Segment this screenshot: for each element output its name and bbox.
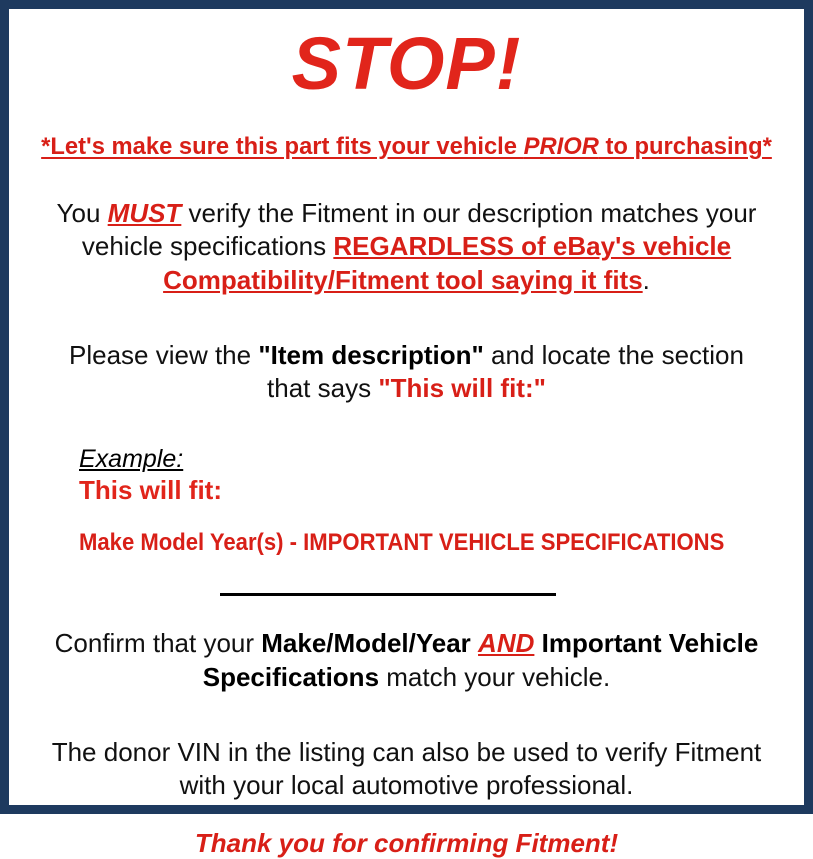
section-divider: [220, 593, 556, 596]
view-description-paragraph: Please view the "Item description" and l…: [21, 339, 792, 406]
item-description-emphasis: "Item description": [258, 340, 483, 370]
example-block: Example: This will fit: Make Model Year(…: [21, 445, 792, 557]
and-emphasis: AND: [478, 628, 534, 658]
fitment-notice-card: STOP! *Let's make sure this part fits yo…: [0, 0, 813, 814]
this-will-fit-emphasis: "This will fit:": [378, 373, 546, 403]
tagline-text-part1: *Let's make sure this part fits your veh…: [41, 133, 523, 160]
make-model-year-emphasis: Make/Model/Year: [261, 628, 471, 658]
must-paragraph-seg3: .: [643, 265, 650, 295]
must-paragraph-seg1: You: [57, 198, 108, 228]
thank-you-line: Thank you for confirming Fitment!: [21, 828, 792, 859]
confirm-paragraph-seg1: Confirm that your: [55, 628, 262, 658]
tagline: *Let's make sure this part fits your veh…: [33, 133, 781, 161]
must-verify-paragraph: You MUST verify the Fitment in our descr…: [21, 197, 792, 297]
divider-wrap: [21, 583, 792, 601]
example-label-row: Example:: [79, 445, 792, 474]
example-this-will-fit: This will fit:: [79, 475, 792, 506]
donor-vin-paragraph: The donor VIN in the listing can also be…: [21, 736, 792, 803]
example-spec-line: Make Model Year(s) - IMPORTANT VEHICLE S…: [79, 529, 735, 557]
example-label: Example:: [79, 445, 183, 474]
stop-heading: STOP!: [21, 27, 792, 101]
tagline-text-part2: to purchasing*: [599, 133, 772, 160]
view-paragraph-seg1: Please view the: [69, 340, 258, 370]
must-emphasis: MUST: [108, 198, 182, 228]
confirm-paragraph: Confirm that your Make/Model/Year AND Im…: [21, 627, 792, 694]
tagline-emphasis-prior: PRIOR: [524, 133, 599, 160]
confirm-paragraph-seg2: match your vehicle.: [379, 662, 610, 692]
